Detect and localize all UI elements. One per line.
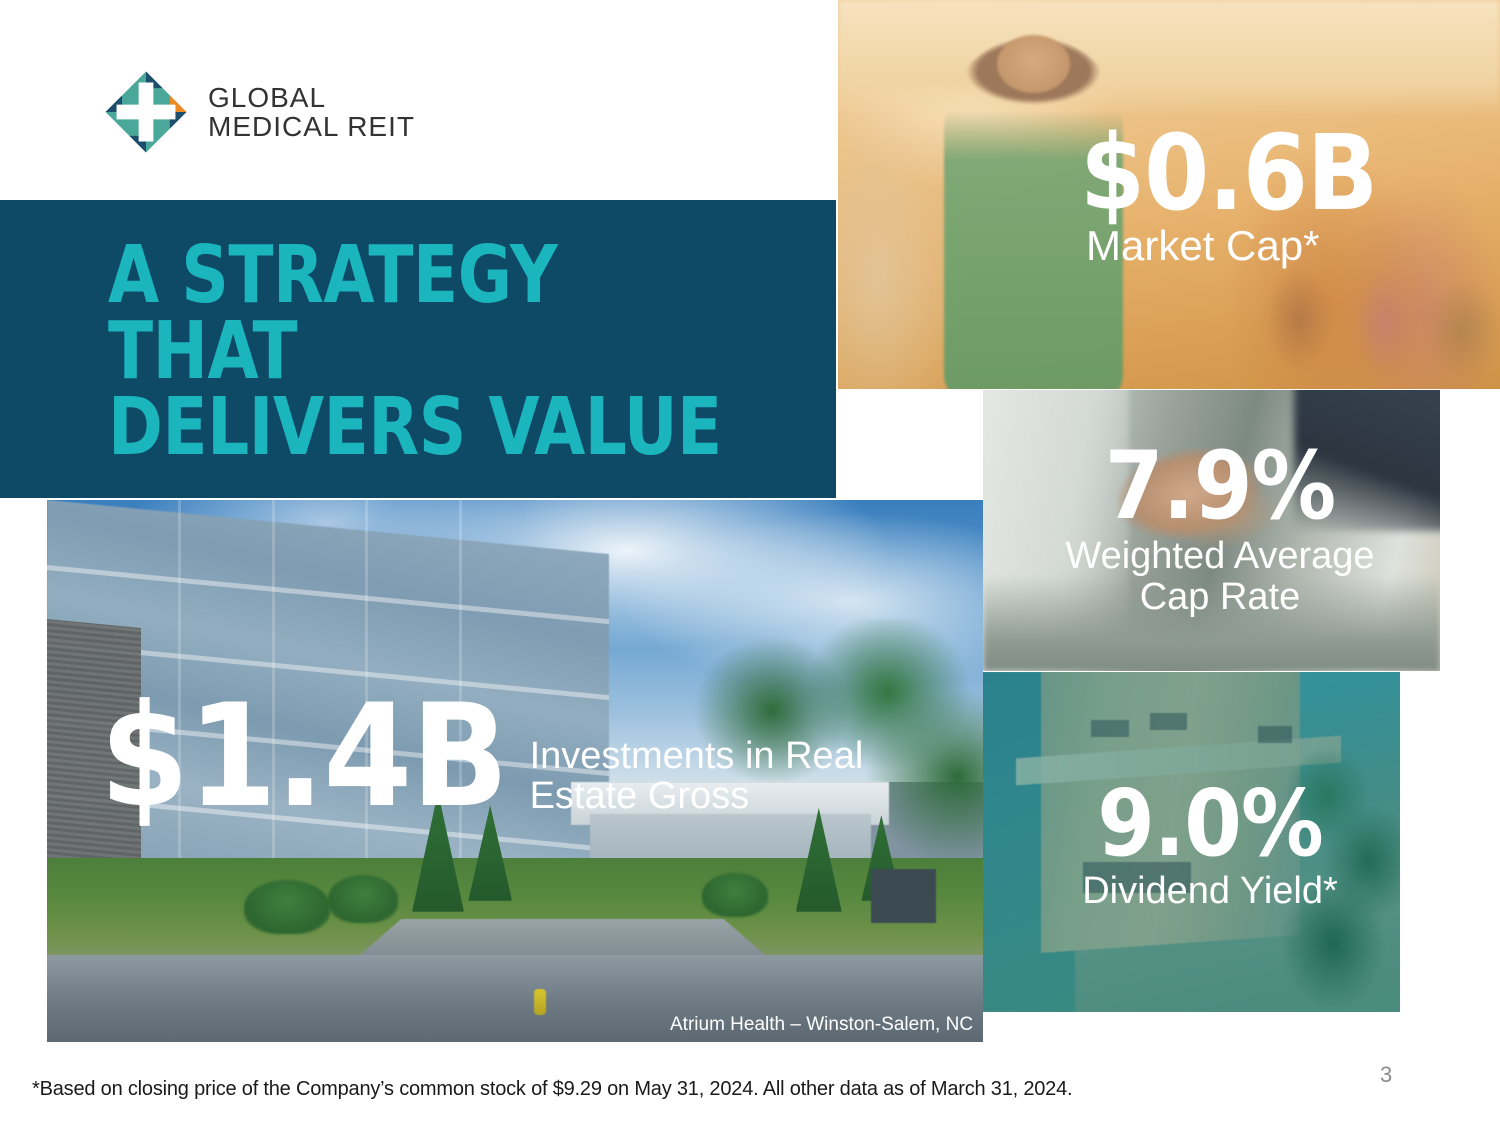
monument-sign [871,869,937,923]
footnote: *Based on closing price of the Company’s… [32,1078,1072,1101]
stat-cap-rate: 7.9% Weighted Average Cap Rate [1050,444,1390,617]
stat-market-cap: $0.6B Market Cap* [1080,126,1377,268]
stat-dividend-yield-label: Dividend Yield* [1050,871,1370,911]
image-caption: Atrium Health – Winston-Salem, NC [670,1014,973,1036]
corridor-ceiling [838,0,1500,117]
page-number: 3 [1380,1062,1392,1088]
brand-wordmark: GLOBAL MEDICAL REIT [208,83,415,141]
shrub [328,875,398,923]
stat-investments: $1.4B Investments in Real Estate Gross [100,692,900,823]
stat-dividend-yield: 9.0% Dividend Yield* [1050,782,1370,911]
brand-logo: GLOBAL MEDICAL REIT [100,66,415,158]
title-banner: A STRATEGY THAT DELIVERS VALUE [0,200,836,498]
slide: GLOBAL MEDICAL REIT $0.6B Market Cap* 7.… [0,0,1500,1125]
fire-hydrant [534,989,546,1015]
brand-name-line-1: GLOBAL [208,83,415,112]
stat-dividend-yield-value: 9.0% [1050,782,1370,867]
stat-investments-value: $1.4B [100,692,508,823]
page-title-line-2: DELIVERS VALUE [108,390,759,466]
brand-name-line-2: MEDICAL REIT [208,112,415,141]
stat-investments-label: Investments in Real Estate Gross [530,736,900,817]
global-medical-reit-logo-icon [100,66,192,158]
stat-market-cap-value: $0.6B [1080,126,1377,222]
shrub [244,880,330,934]
page-title-line-1: A STRATEGY THAT [108,238,759,390]
shrub [702,873,768,917]
stat-cap-rate-label: Weighted Average Cap Rate [1050,536,1390,617]
page-title: A STRATEGY THAT DELIVERS VALUE [108,238,759,465]
stat-cap-rate-value: 7.9% [1050,444,1390,530]
nurse-face [997,35,1070,93]
